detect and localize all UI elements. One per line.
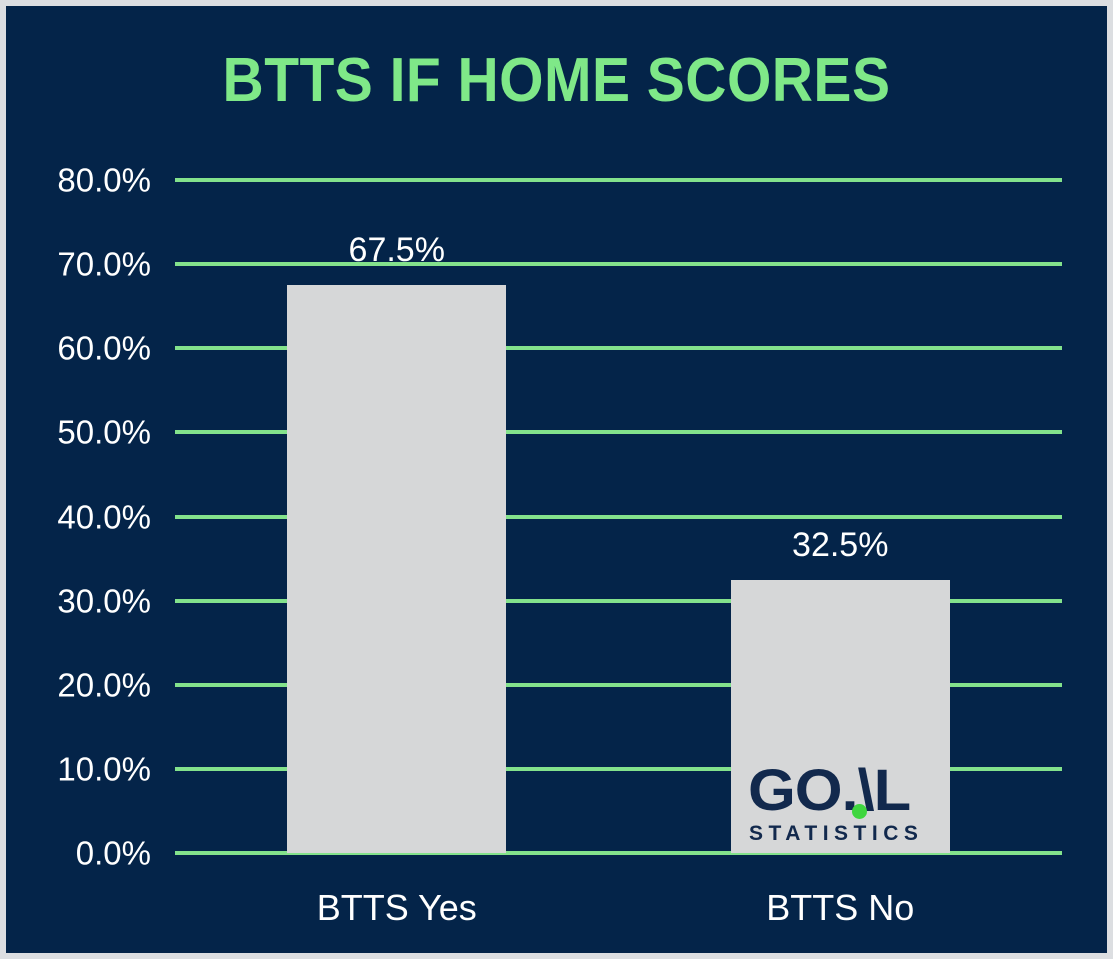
y-axis-tick-label: 20.0% (57, 668, 151, 701)
y-axis-tick-label: 40.0% (57, 500, 151, 533)
gridline (175, 178, 1062, 182)
chart-container: BTTS IF HOME SCORES 0.0%10.0%20.0%30.0%4… (0, 0, 1113, 959)
bar-value-label: 32.5% (792, 528, 888, 562)
gridline (175, 262, 1062, 266)
logo-dot-icon (852, 804, 867, 819)
y-axis-tick-label: 10.0% (57, 752, 151, 785)
y-axis-tick-label: 30.0% (57, 584, 151, 617)
y-axis-tick-label: 60.0% (57, 332, 151, 365)
logo-subtitle: STATISTICS (749, 823, 923, 844)
goal-statistics-logo: GO.\L STATISTICS (748, 762, 953, 854)
y-axis-tick-label: 0.0% (76, 837, 151, 870)
bar-value-label: 67.5% (349, 233, 445, 267)
y-axis-tick-label: 50.0% (57, 416, 151, 449)
x-axis-category-label: BTTS No (766, 890, 914, 926)
plot-area: 67.5%32.5% (175, 180, 1062, 853)
y-axis-tick-label: 70.0% (57, 248, 151, 281)
y-axis-tick-label: 80.0% (57, 164, 151, 197)
chart-canvas: BTTS IF HOME SCORES 0.0%10.0%20.0%30.0%4… (6, 6, 1107, 953)
y-axis-tick-labels: 0.0%10.0%20.0%30.0%40.0%50.0%60.0%70.0%8… (6, 180, 151, 853)
x-axis-category-label: BTTS Yes (317, 890, 477, 926)
bar[interactable] (287, 285, 506, 853)
chart-title: BTTS IF HOME SCORES (50, 50, 1063, 112)
